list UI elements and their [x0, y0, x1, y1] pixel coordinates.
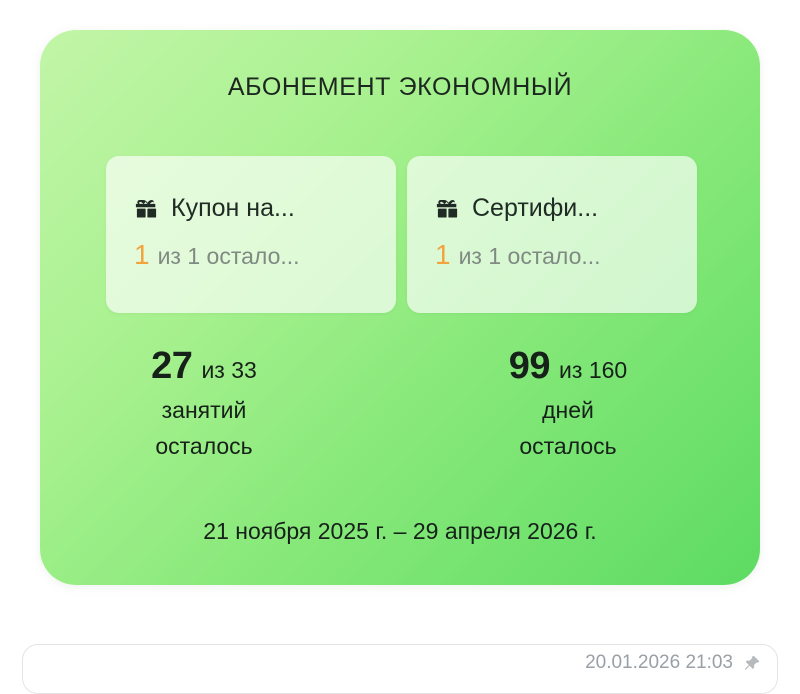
coupon-remaining-row: 1 из 1 остало... — [435, 239, 697, 271]
stat-lessons-top: 27 из 33 — [40, 345, 386, 388]
coupon-card-sertifikat[interactable]: Сертифи... 1 из 1 остало... — [407, 156, 697, 313]
coupon-card-kupon[interactable]: Купон на... 1 из 1 остало... — [106, 156, 396, 313]
stat-lessons: 27 из 33 занятий осталось — [40, 345, 386, 460]
coupon-header: Купон на... — [134, 194, 396, 223]
coupon-remaining-row: 1 из 1 остало... — [134, 239, 396, 271]
coupon-row: Купон на... 1 из 1 остало... Сертифи... — [106, 156, 697, 313]
stat-lessons-unit: занятий — [40, 397, 386, 424]
coupon-title: Купон на... — [171, 194, 295, 223]
stat-days-unit: дней — [386, 397, 750, 424]
stat-lessons-value: 27 — [151, 345, 192, 388]
coupon-title: Сертифи... — [472, 194, 598, 223]
next-message-bubble[interactable]: 20.01.2026 21:03 — [22, 644, 778, 694]
stat-days: 99 из 160 дней осталось — [386, 345, 750, 460]
stat-days-left: осталось — [386, 433, 750, 460]
gift-icon — [435, 197, 460, 221]
stat-days-top: 99 из 160 — [386, 345, 750, 388]
coupon-remaining-label: из 1 остало... — [459, 243, 601, 270]
gift-icon — [134, 197, 159, 221]
stat-days-total: из 160 — [559, 357, 627, 384]
stat-lessons-left: осталось — [40, 433, 386, 460]
pin-icon — [742, 654, 761, 673]
coupon-header: Сертифи... — [435, 194, 697, 223]
coupon-remaining-label: из 1 остало... — [158, 243, 300, 270]
subscription-card-message[interactable]: АБОНЕМЕНТ ЭКОНОМНЫЙ Купон на... 1 из 1 о… — [40, 30, 760, 585]
page-title: АБОНЕМЕНТ ЭКОНОМНЫЙ — [40, 73, 760, 102]
coupon-count: 1 — [134, 239, 150, 271]
chat-message-list: АБОНЕМЕНТ ЭКОНОМНЫЙ Купон на... 1 из 1 о… — [0, 0, 800, 675]
stats-row: 27 из 33 занятий осталось 99 из 160 дней… — [40, 345, 760, 460]
message-timestamp: 20.01.2026 21:03 — [585, 652, 733, 674]
date-range: 21 ноября 2025 г. – 29 апреля 2026 г. — [40, 518, 760, 545]
message-meta: 20.01.2026 21:03 — [585, 652, 761, 674]
stat-lessons-total: из 33 — [201, 357, 256, 384]
stat-days-value: 99 — [509, 345, 550, 388]
coupon-count: 1 — [435, 239, 451, 271]
